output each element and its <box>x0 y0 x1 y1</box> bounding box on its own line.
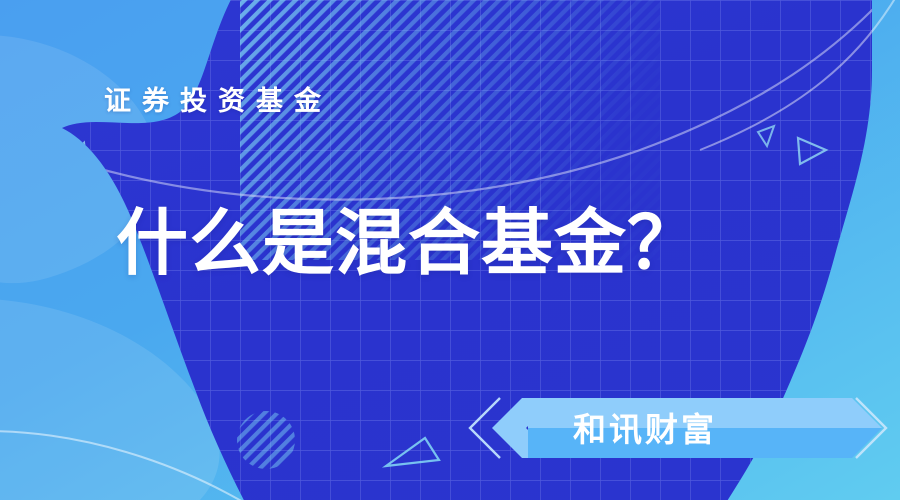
poster-subtitle: 证券投资基金 <box>104 84 332 118</box>
poster-canvas: 证券投资基金 什么是混合基金？ 和讯财富 <box>0 0 900 500</box>
striped-circle <box>230 400 310 480</box>
poster-main-title: 什么是混合基金？ <box>116 203 700 285</box>
brand-label: 和讯财富 <box>573 410 717 450</box>
